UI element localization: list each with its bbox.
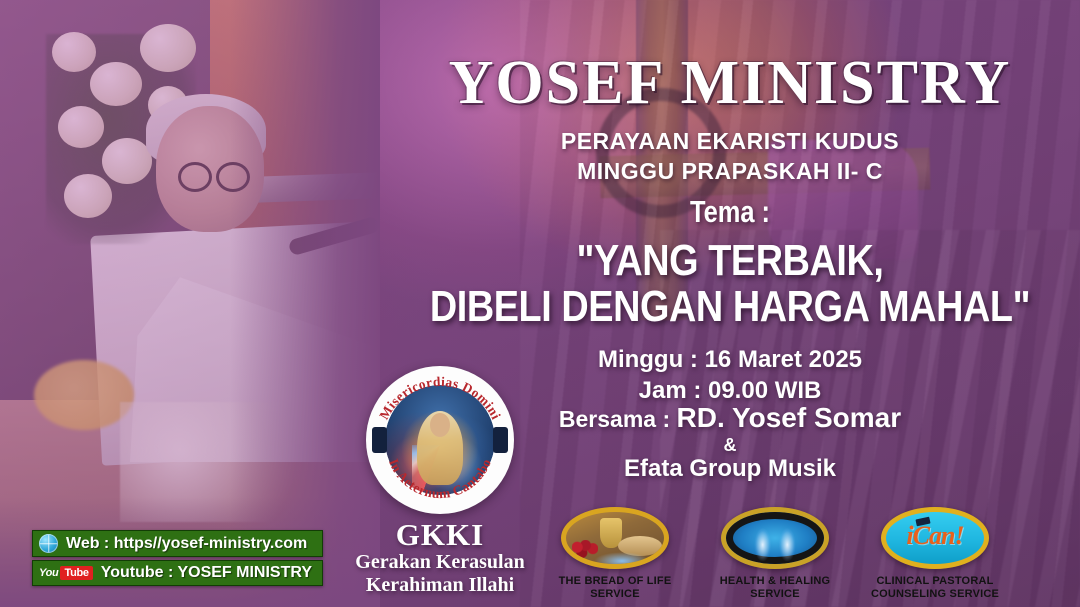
service-label-line-2: SERVICE [700,588,850,601]
globe-icon [39,534,58,553]
org-name-line-2: Kerahiman Illahi [330,574,550,597]
service-label-line-1: HEALTH & HEALING [700,575,850,588]
service-label-line-1: THE BREAD OF LIFE [540,575,690,588]
poster-title: YOSEF MINISTRY [380,48,1080,119]
theme-line-2: DIBELI DENGAN HARGA MAHAL" [429,282,1031,332]
youtube-text: Youtube : YOSEF MINISTRY [101,564,312,582]
org-acronym: GKKI [330,518,550,551]
youtube-icon-tube: Tube [60,566,92,580]
service-logos: THE BREAD OF LIFE SERVICE HEALTH & HEALI… [540,507,1010,601]
subtitle-line-2: MINGGU PRAPASKAH II- C [380,156,1080,186]
youtube-icon: You Tube [39,566,93,580]
service-label-line-1: CLINICAL PASTORAL [860,575,1010,588]
service-label-line-2: COUNSELING SERVICE [860,588,1010,601]
emblem-arc-top: Misericordias Domini [376,374,504,422]
priest-photo [0,0,380,607]
website-text: Web : https//yosef-ministry.com [66,535,307,553]
poster-subtitle: PERAYAAN EKARISTI KUDUS MINGGU PRAPASKAH… [380,126,1080,186]
svg-text:Misericordias Domini: Misericordias Domini [376,374,504,422]
celebrant-name: RD. Yosef Somar [677,402,902,433]
organization-name: GKKI Gerakan Kerasulan Kerahiman Illahi [330,518,550,597]
subtitle-line-1: PERAYAAN EKARISTI KUDUS [380,126,1080,156]
theme-line-1: "YANG TERBAIK, [429,236,1031,286]
service-bread-of-life: THE BREAD OF LIFE SERVICE [540,507,690,601]
praying-hands-icon [747,524,803,564]
emblem-arc-bottom: In Aeternum Cantabo [386,457,494,502]
health-healing-logo [721,507,829,569]
poster-canvas: YOSEF MINISTRY PERAYAAN EKARISTI KUDUS M… [0,0,1080,607]
youtube-bar[interactable]: You Tube Youtube : YOSEF MINISTRY [32,560,323,586]
contact-bars: Web : https//yosef-ministry.com You Tube… [32,530,323,589]
ican-logo: iCan! [881,507,989,569]
service-label-line-2: SERVICE [540,588,690,601]
logo-glow [594,552,650,569]
gkki-emblem: Misericordias Domini In Aeternum Cantabo [366,366,514,514]
bread-of-life-logo [561,507,669,569]
website-bar[interactable]: Web : https//yosef-ministry.com [32,530,323,557]
service-clinical-pastoral: iCan! CLINICAL PASTORAL COUNSELING SERVI… [860,507,1010,601]
youtube-icon-you: You [39,567,58,579]
service-health-healing: HEALTH & HEALING SERVICE [700,507,850,601]
theme-label: Tema : [443,194,1017,230]
org-name-line-1: Gerakan Kerasulan [330,551,550,574]
ican-wordmark: iCan! [886,512,984,564]
svg-text:In Aeternum Cantabo: In Aeternum Cantabo [386,457,494,502]
emblem-arc-text: Misericordias Domini In Aeternum Cantabo [366,366,514,514]
celebrant-lead: Bersama : [559,406,677,432]
